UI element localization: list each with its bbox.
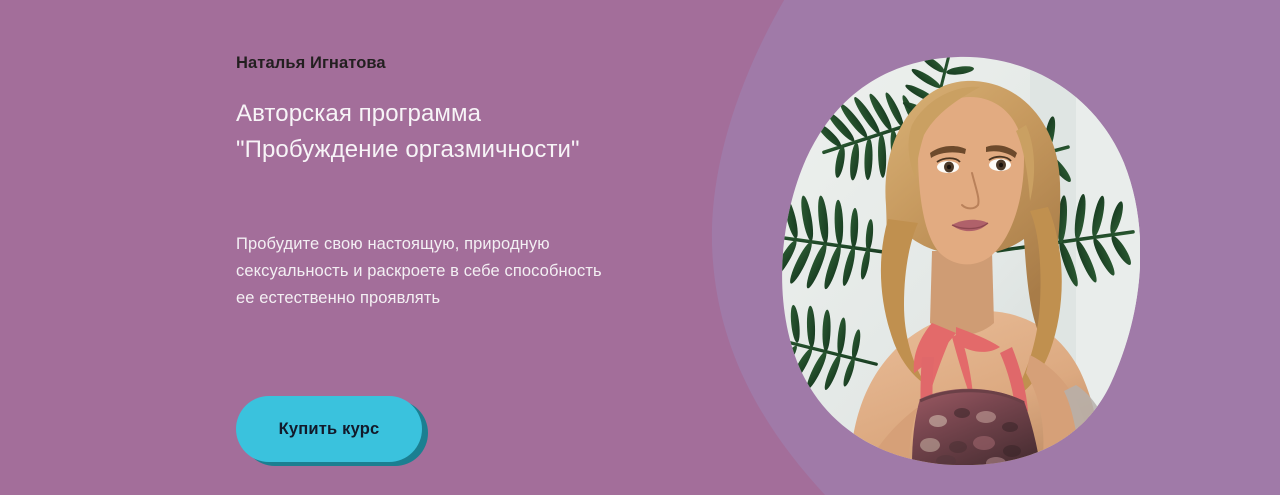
- cta-container: Купить курс: [236, 396, 436, 472]
- hero-section: Наталья Игнатова Авторская программа "Пр…: [0, 0, 1280, 495]
- headline-line-2: "Пробуждение оргазмичности": [236, 132, 656, 168]
- hero-description: Пробудите свою настоящую, природную секс…: [236, 231, 636, 312]
- author-name: Наталья Игнатова: [236, 54, 386, 74]
- description-line-1: Пробудите свою настоящую, природную: [236, 231, 636, 258]
- description-line-3: ее естественно проявлять: [236, 285, 636, 312]
- page-title: Авторская программа "Пробуждение оргазми…: [236, 96, 656, 168]
- hero-text-column: Наталья Игнатова Авторская программа "Пр…: [236, 0, 666, 495]
- headline-line-1: Авторская программа: [236, 96, 656, 132]
- description-line-2: сексуальность и раскроете в себе способн…: [236, 258, 636, 285]
- buy-course-button[interactable]: Купить курс: [236, 396, 422, 462]
- portrait-photo: [780, 55, 1140, 465]
